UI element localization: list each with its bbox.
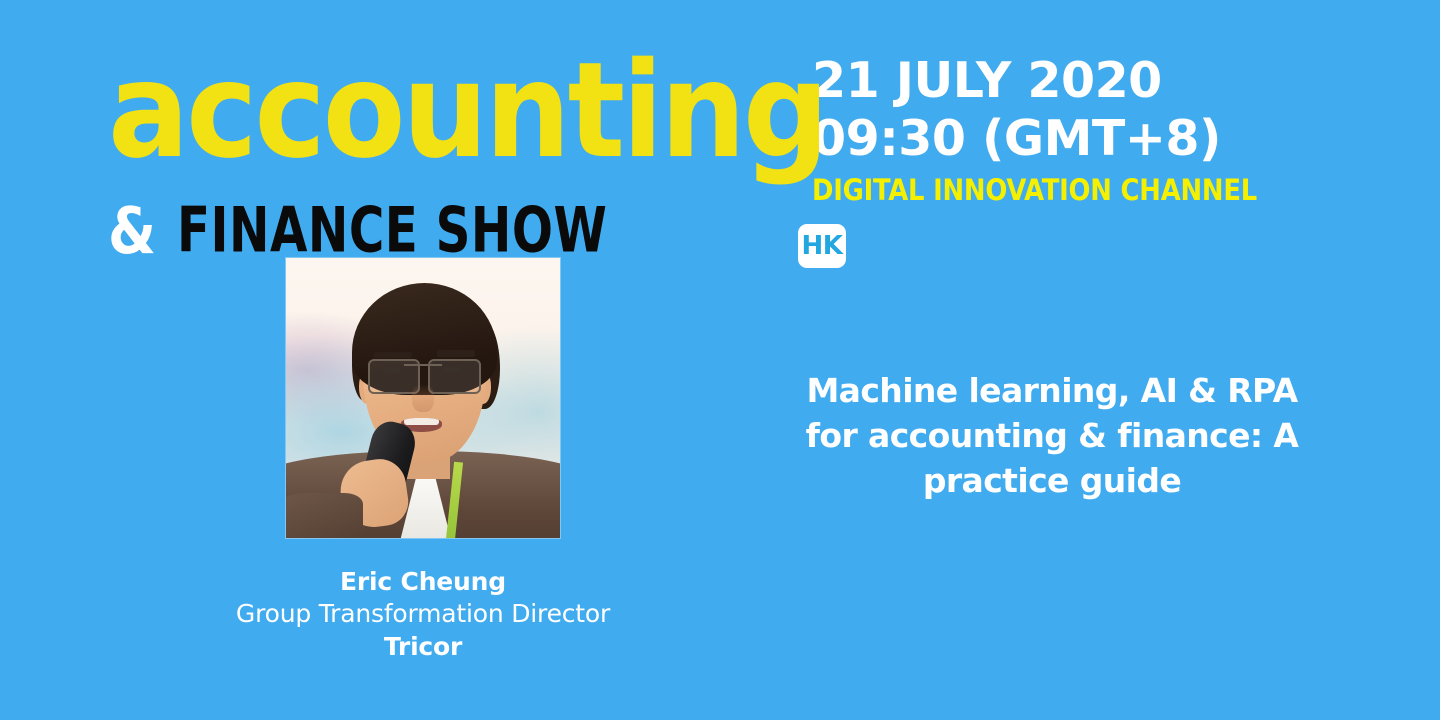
photo-eyebrow-right — [437, 350, 475, 356]
logo-hk-badge-label: HK — [802, 233, 843, 259]
photo-teeth — [404, 418, 439, 425]
session-title: Machine learning, AI & RPA for accountin… — [782, 368, 1322, 503]
logo-ampersand: & — [108, 199, 156, 263]
photo-eyebrow-left — [374, 352, 412, 358]
speaker-name: Eric Cheung — [180, 566, 666, 597]
event-date: 21 JULY 2020 — [812, 52, 1372, 110]
speaker-photo — [286, 258, 560, 538]
webinar-promo-slide: accounting & FINANCE SHOW HK 21 JULY 202… — [0, 0, 1440, 720]
logo-second-line: & FINANCE SHOW — [108, 199, 625, 259]
logo-hk-badge: HK — [798, 224, 846, 268]
speaker-company: Tricor — [180, 631, 666, 663]
photo-glasses-bridge — [404, 364, 442, 366]
photo-nose — [412, 384, 434, 412]
logo-word-finance-show: FINANCE SHOW — [177, 199, 607, 264]
speaker-block: Eric Cheung Group Transformation Directo… — [180, 258, 666, 663]
event-channel: DIGITAL INNOVATION CHANNEL — [812, 174, 1366, 206]
event-logo: accounting & FINANCE SHOW HK — [108, 44, 788, 240]
event-info-block: 21 JULY 2020 09:30 (GMT+8) DIGITAL INNOV… — [812, 52, 1372, 206]
speaker-role: Group Transformation Director — [180, 597, 666, 631]
event-time: 09:30 (GMT+8) — [812, 110, 1372, 168]
logo-word-accounting: accounting — [108, 44, 826, 176]
photo-sleeve — [286, 493, 363, 538]
